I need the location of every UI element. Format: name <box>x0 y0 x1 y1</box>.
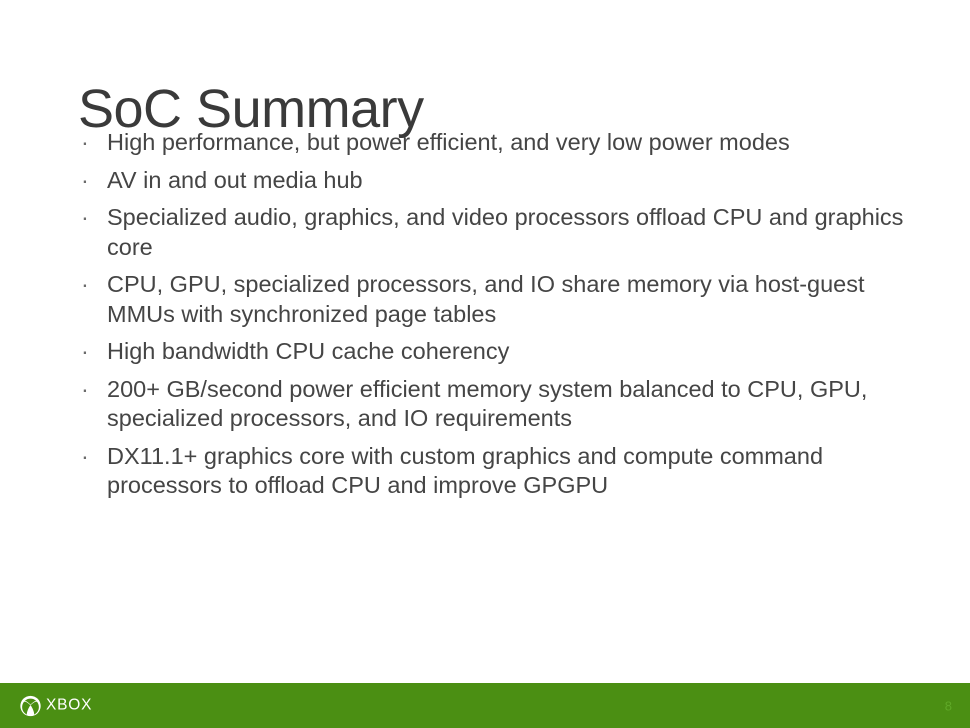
bullet-dot-icon: · <box>81 166 89 196</box>
xbox-wordmark: XBOX <box>46 698 92 714</box>
list-item-text: High bandwidth CPU cache coherency <box>107 337 914 367</box>
xbox-sphere-icon <box>20 695 41 716</box>
bullet-dot-icon: · <box>81 337 89 367</box>
list-item: · DX11.1+ graphics core with custom grap… <box>78 442 914 501</box>
list-item: · CPU, GPU, specialized processors, and … <box>78 270 914 329</box>
list-item-text: AV in and out media hub <box>107 166 914 196</box>
list-item-text: DX11.1+ graphics core with custom graphi… <box>107 442 914 501</box>
bullet-dot-icon: · <box>81 128 89 158</box>
bullet-dot-icon: · <box>81 375 89 405</box>
list-item: · High performance, but power efficient,… <box>78 128 914 158</box>
presentation-slide: SoC Summary · High performance, but powe… <box>0 0 970 728</box>
list-item: · High bandwidth CPU cache coherency <box>78 337 914 367</box>
bullet-list: · High performance, but power efficient,… <box>78 128 914 501</box>
xbox-brand-logo: XBOX <box>20 695 92 716</box>
bullet-dot-icon: · <box>81 270 89 300</box>
slide-footer: XBOX 8 <box>0 683 970 728</box>
list-item: · 200+ GB/second power efficient memory … <box>78 375 914 434</box>
list-item: · Specialized audio, graphics, and video… <box>78 203 914 262</box>
list-item-text: High performance, but power efficient, a… <box>107 128 914 158</box>
list-item-text: 200+ GB/second power efficient memory sy… <box>107 375 914 434</box>
list-item-text: CPU, GPU, specialized processors, and IO… <box>107 270 914 329</box>
bullet-dot-icon: · <box>81 442 89 472</box>
page-number: 8 <box>945 699 952 712</box>
bullet-dot-icon: · <box>81 203 89 233</box>
list-item-text: Specialized audio, graphics, and video p… <box>107 203 914 262</box>
list-item: · AV in and out media hub <box>78 166 914 196</box>
